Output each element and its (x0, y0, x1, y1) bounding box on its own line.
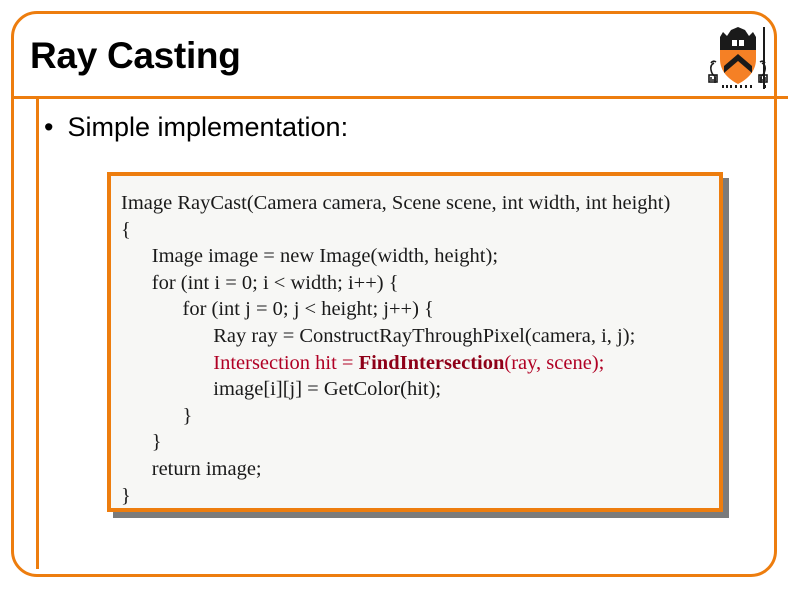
code-line: } (121, 483, 719, 510)
bullet-label: Simple implementation: (67, 112, 348, 143)
body-left-rule (36, 99, 39, 569)
page-title: Ray Casting (30, 37, 241, 74)
code-line: Image image = new Image(width, height); (121, 243, 719, 270)
code-block: Image RayCast(Camera camera, Scene scene… (107, 172, 723, 512)
code-line: Intersection hit = FindIntersection(ray,… (121, 350, 719, 377)
slide: Ray Casting (0, 0, 800, 600)
code-line: { (121, 217, 719, 244)
code-emphasis-token: FindIntersection (359, 352, 505, 374)
code-line: Image RayCast(Camera camera, Scene scene… (121, 190, 719, 217)
code-line: for (int j = 0; j < height; j++) { (121, 296, 719, 323)
bullet-item-simple-implementation: • Simple implementation: (44, 112, 348, 143)
code-line: for (int i = 0; i < width; i++) { (121, 270, 719, 297)
bullet-marker-icon: • (44, 114, 53, 141)
code-line: } (121, 429, 719, 456)
code-line: return image; (121, 456, 719, 483)
title-divider-rule (11, 96, 788, 99)
code-line: } (121, 403, 719, 430)
code-line: image[i][j] = GetColor(hit); (121, 376, 719, 403)
code-block-content: Image RayCast(Camera camera, Scene scene… (111, 176, 719, 509)
code-line: Ray ray = ConstructRayThroughPixel(camer… (121, 323, 719, 350)
princeton-shield-logo (704, 23, 778, 91)
